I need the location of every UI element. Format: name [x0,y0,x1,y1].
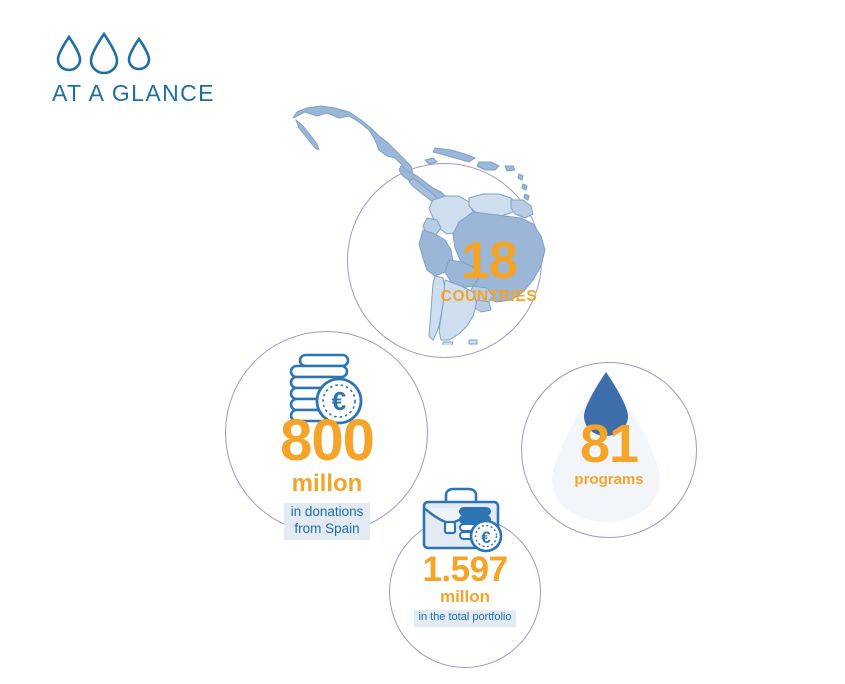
water-drop-trio-icon [52,32,352,74]
stat-caption-donations: in donations from Spain [284,503,371,540]
page-title: AT A GLANCE [52,80,352,107]
stat-caption-donations-line2: from Spain [291,521,364,538]
stat-block-donations: 800 millon in donations from Spain [243,414,411,540]
stat-unit-countries: COUNTRIES [424,288,554,306]
stat-caption-portfolio: in the total portfolio [414,610,517,627]
stat-block-programs: 81 programs [545,420,673,488]
stat-block-portfolio: 1.597 millon in the total portfolio [398,554,532,627]
stat-number-programs: 81 [545,420,673,470]
stat-number-countries: 18 [424,238,554,286]
stat-unit-programs: programs [545,471,673,488]
stat-unit-donations: millon [243,470,411,498]
infographic-canvas: AT A GLANCE [0,0,845,684]
stat-number-portfolio: 1.597 [398,554,532,586]
header: AT A GLANCE [52,32,352,107]
stat-unit-portfolio: millon [398,587,532,607]
stat-number-donations: 800 [243,414,411,467]
stat-block-countries: 18 COUNTRIES [424,238,554,306]
stat-caption-donations-line1: in donations [291,504,364,521]
svg-text:€: € [481,528,491,547]
